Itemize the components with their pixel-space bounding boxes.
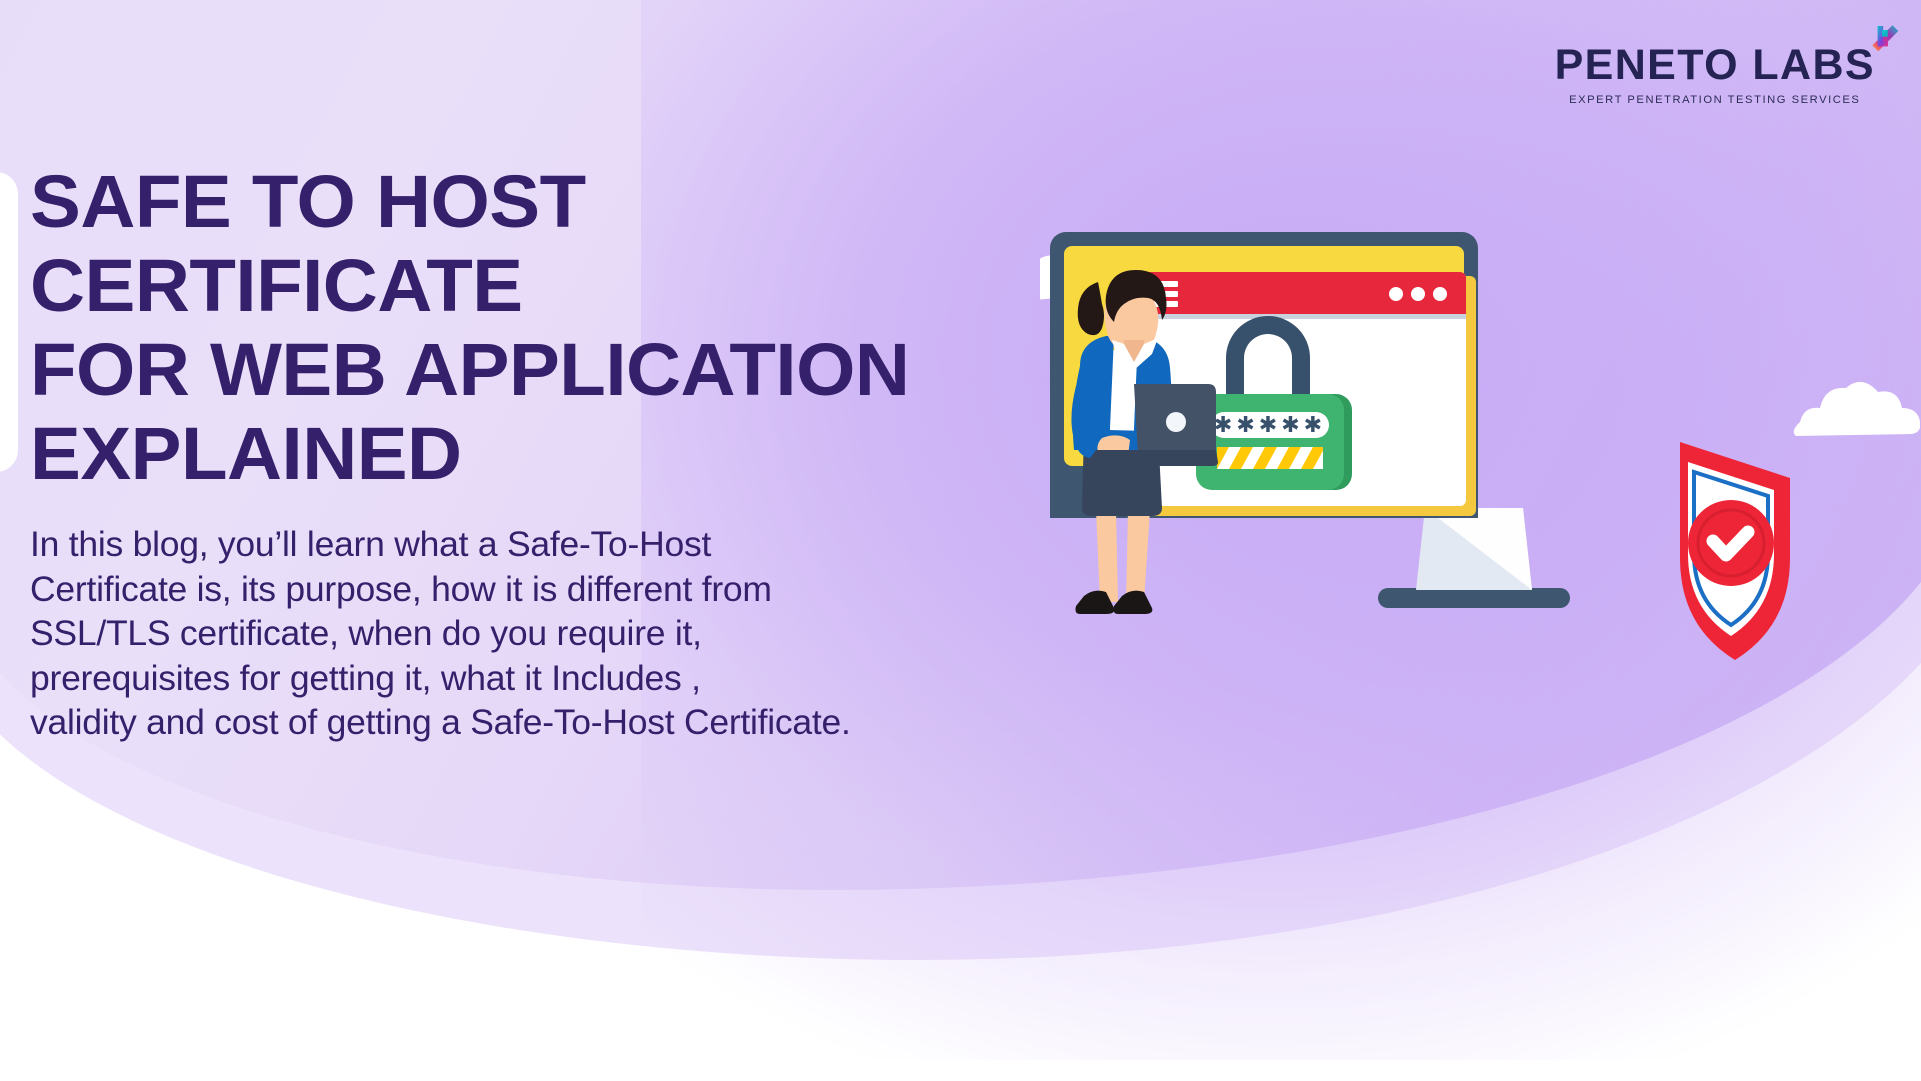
verified-shield-badge [1680, 442, 1790, 660]
cloud-shape-right [1794, 382, 1920, 436]
logo-tagline: EXPERT PENETRATION TESTING SERVICES [1555, 94, 1875, 106]
person-shoe-right [1114, 591, 1153, 614]
laptop-base [1090, 450, 1219, 466]
brand-logo[interactable]: PENETO LABS [1555, 44, 1875, 106]
padlock-body [1196, 394, 1344, 490]
three-dots-icon[interactable] [1389, 287, 1447, 301]
subcopy-line-1: In this blog, you’ll learn what a Safe-T… [30, 524, 711, 564]
password-mask: ✱✱✱✱✱ [1214, 413, 1326, 438]
person-leg-right [1126, 510, 1150, 602]
laptop-logo [1166, 412, 1186, 432]
hero-subcopy: In this blog, you’ll learn what a Safe-T… [30, 522, 1040, 745]
page-title: SAFE TO HOST CERTIFICATEFOR WEB APPLICAT… [30, 160, 1070, 496]
subcopy-line-4: prerequisites for getting it, what it In… [30, 658, 701, 698]
logo-wordmark: PENETO LABS [1555, 44, 1875, 87]
logo-wordmark-row: PENETO LABS [1555, 44, 1875, 87]
person-leg-left [1096, 510, 1118, 602]
web-security-monitor-illustration: ✱✱✱✱✱ [1040, 210, 1920, 660]
headline-line-1: SAFE TO HOST CERTIFICATE [30, 160, 586, 327]
subcopy-line-5: validity and cost of getting a Safe-To-H… [30, 702, 851, 742]
peneto-n-mark-icon [1869, 23, 1901, 55]
subcopy-line-2: Certificate is, its purpose, how it is d… [30, 569, 772, 609]
headline-line-2: FOR WEB APPLICATION [30, 328, 909, 411]
subcopy-line-3: SSL/TLS certificate, when do you require… [30, 613, 702, 653]
illustration-svg: ✱✱✱✱✱ [1040, 210, 1920, 660]
hazard-stripes [1217, 447, 1337, 469]
headline-line-3: EXPLAINED [30, 412, 462, 495]
svg-text:✱✱✱✱✱: ✱✱✱✱✱ [1214, 413, 1326, 438]
monitor-stand-base [1378, 588, 1570, 608]
banner-root: PENETO LABS [0, 0, 1921, 1081]
hero-copy-block: SAFE TO HOST CERTIFICATEFOR WEB APPLICAT… [30, 160, 1040, 745]
browser-titlebar-divider [1124, 314, 1466, 319]
left-edge-tab [0, 172, 18, 472]
